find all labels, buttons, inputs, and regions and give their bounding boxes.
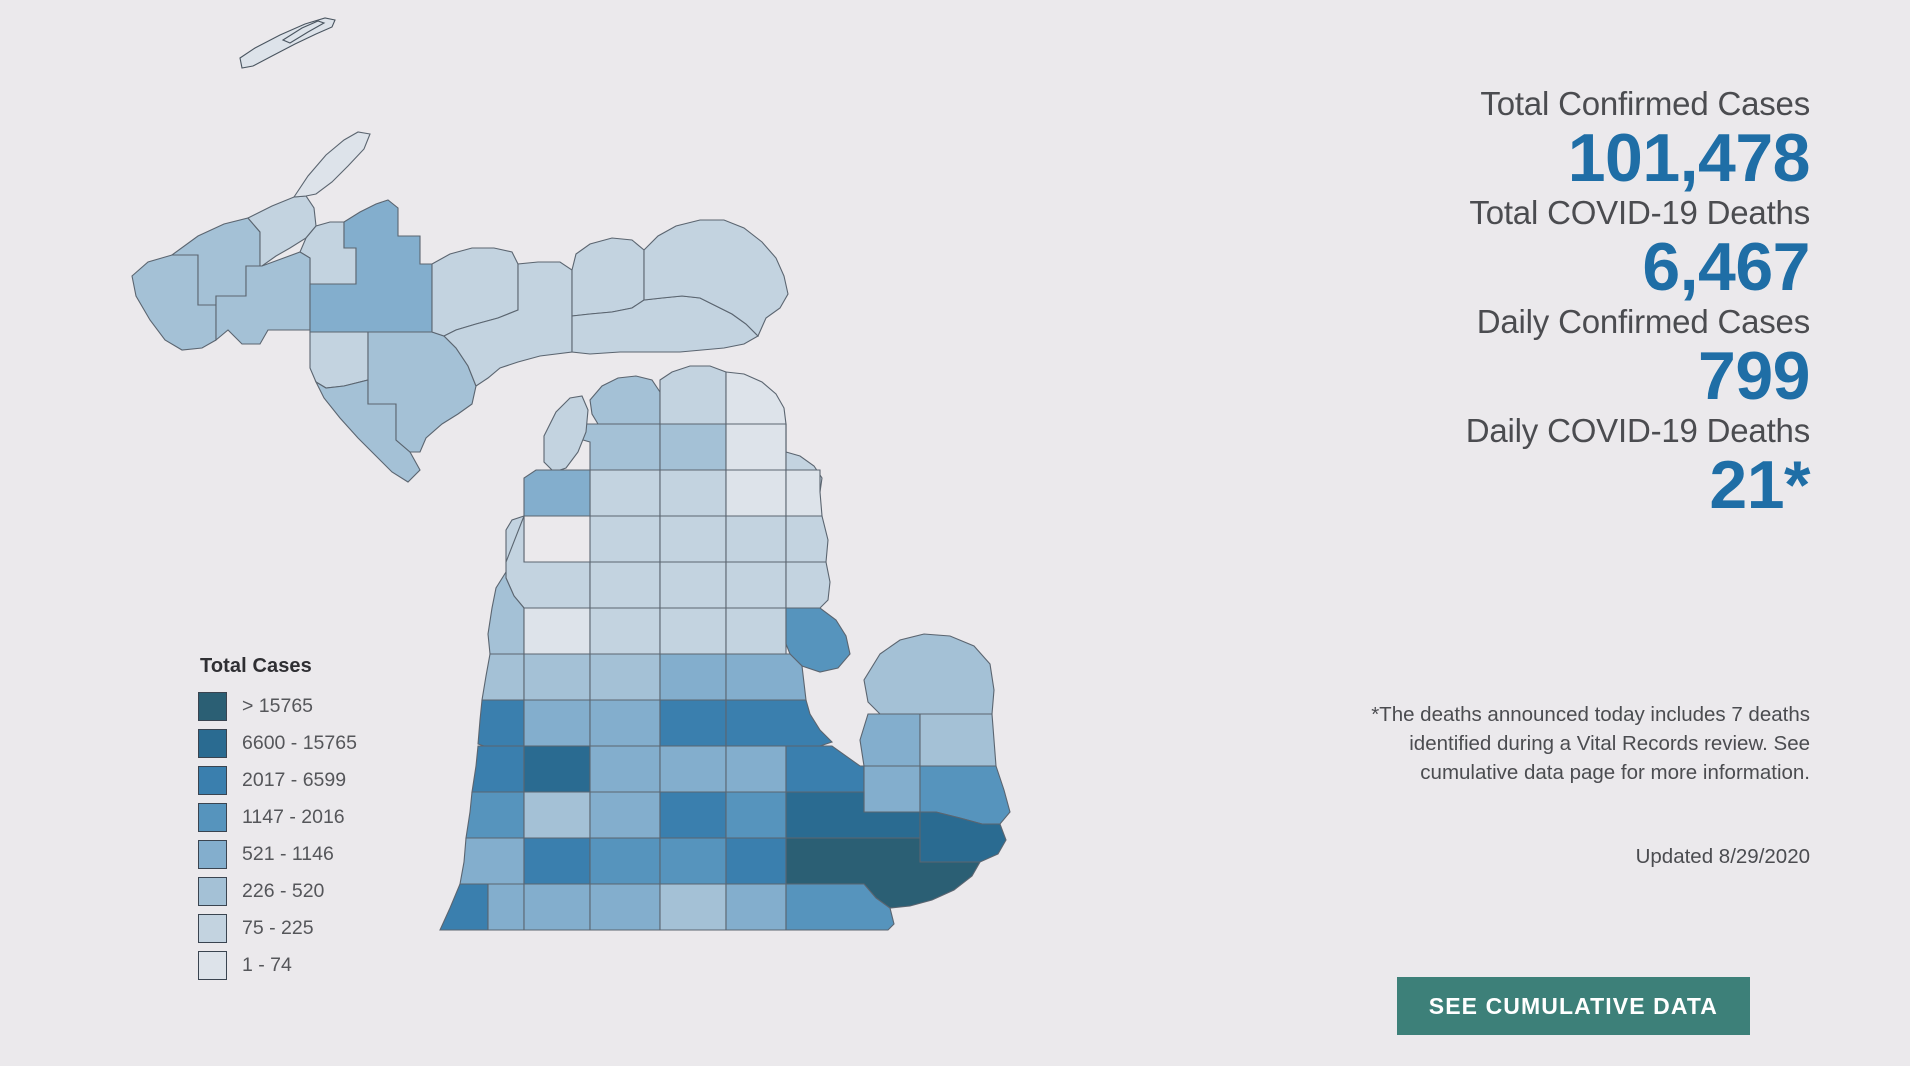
county-roscommon[interactable] [660,516,726,562]
county-lake[interactable] [524,608,590,654]
county-isabella[interactable] [660,654,726,700]
legend-label: 226 - 520 [242,880,324,903]
county-clinton[interactable] [660,746,726,792]
county-jackson[interactable] [660,838,726,884]
county-iosco[interactable] [786,516,828,562]
county-calhoun[interactable] [590,838,660,884]
county-ottawa[interactable] [472,746,524,792]
county-huron[interactable] [864,634,994,714]
legend-row[interactable]: 6600 - 15765 [198,725,428,762]
legend-row[interactable]: 521 - 1146 [198,836,428,873]
county-ingham[interactable] [660,792,726,838]
legend-label: > 15765 [242,695,313,718]
county-dickinson[interactable] [310,332,368,388]
county-montmorency[interactable] [726,424,786,470]
county-kent[interactable] [524,746,590,792]
county-saginaw[interactable] [660,700,726,746]
county-keweenaw[interactable] [294,132,370,197]
county-saginaw-e[interactable] [726,700,832,746]
stat-value: 21* [1190,450,1810,520]
stat-label: Total Confirmed Cases [1190,86,1810,123]
legend-label: 521 - 1146 [242,843,334,866]
stat-value: 101,478 [1190,123,1810,193]
county-kalamazoo[interactable] [524,838,590,884]
county-antrim[interactable] [590,470,660,516]
legend-label: 1147 - 2016 [242,806,345,829]
county-allegan[interactable] [466,792,524,838]
county-otsego[interactable] [660,424,726,470]
county-wexford[interactable] [590,562,660,608]
stat-label: Total COVID-19 Deaths [1190,195,1810,232]
county-lapeer[interactable] [864,766,920,812]
legend-label: 6600 - 15765 [242,732,357,755]
legend-row[interactable]: 2017 - 6599 [198,762,428,799]
county-leelanau[interactable] [544,396,588,472]
county-genesee[interactable] [786,746,864,792]
county-montcalm[interactable] [524,700,590,746]
county-benzie[interactable] [506,516,590,608]
county-osceola[interactable] [590,608,660,654]
bottom-frame-strip [0,1066,1920,1080]
county-lenawee[interactable] [726,884,786,930]
county-cass[interactable] [488,884,524,930]
stat-value: 6,467 [1190,232,1810,302]
legend-label: 2017 - 6599 [242,769,346,792]
legend-swatch [198,729,227,758]
county-charlevoix[interactable] [576,424,660,470]
county-clare[interactable] [660,608,726,654]
county-cheboygan[interactable] [660,366,726,424]
county-arenac[interactable] [786,562,830,608]
legend-label: 1 - 74 [242,954,292,977]
map-legend: Total Cases > 157656600 - 157652017 - 65… [198,655,428,984]
covid-dashboard: Total Cases > 157656600 - 157652017 - 65… [0,0,1920,1080]
legend-swatch [198,914,227,943]
county-emmet[interactable] [590,376,660,424]
county-sanilac[interactable] [920,714,996,766]
county-newaygo[interactable] [524,654,590,700]
county-eaton[interactable] [590,792,660,838]
county-mecosta[interactable] [590,654,660,700]
legend-row[interactable]: 75 - 225 [198,910,428,947]
legend-row[interactable]: 1147 - 2016 [198,799,428,836]
county-oscoda[interactable] [726,470,786,516]
updated-timestamp: Updated 8/29/2020 [1310,845,1810,869]
county-berrien[interactable] [440,884,488,930]
legend-rows: > 157656600 - 157652017 - 65991147 - 201… [198,688,428,984]
county-barry[interactable] [524,792,590,838]
legend-title: Total Cases [200,655,428,678]
legend-swatch [198,877,227,906]
county-kalkaska[interactable] [590,516,660,562]
county-washtenaw[interactable] [726,838,786,884]
footnote-text: *The deaths announced today includes 7 d… [1310,700,1810,787]
county-ogemaw-s[interactable] [726,562,786,608]
legend-swatch [198,692,227,721]
county-missaukee[interactable] [660,562,726,608]
county-gladwin[interactable] [726,608,786,654]
county-isle-royale[interactable] [240,18,335,68]
county-livingston[interactable] [726,792,786,838]
see-cumulative-data-button[interactable]: SEE CUMULATIVE DATA [1397,977,1750,1035]
legend-swatch [198,840,227,869]
legend-row[interactable]: 226 - 520 [198,873,428,910]
stat-value: 799 [1190,341,1810,411]
legend-row[interactable]: 1 - 74 [198,947,428,984]
stat-label: Daily Confirmed Cases [1190,304,1810,341]
county-van-buren[interactable] [460,838,524,884]
legend-label: 75 - 225 [242,917,314,940]
county-gratiot[interactable] [590,700,660,746]
stats-panel: Total Confirmed Cases101,478Total COVID-… [1190,86,1810,522]
county-hillsdale[interactable] [660,884,726,930]
stat-label: Daily COVID-19 Deaths [1190,413,1810,450]
county-ionia[interactable] [590,746,660,792]
county-luce[interactable] [572,238,644,316]
county-tuscola[interactable] [860,714,920,766]
right-frame-strip [1910,0,1920,1080]
county-ogemaw[interactable] [726,516,786,562]
legend-row[interactable]: > 15765 [198,688,428,725]
county-st-joseph[interactable] [524,884,590,930]
county-alcona[interactable] [786,470,822,516]
county-oceana[interactable] [482,654,524,700]
county-muskegon[interactable] [478,700,524,746]
county-shiawassee[interactable] [726,746,786,792]
county-crawford[interactable] [660,470,726,516]
legend-swatch [198,766,227,795]
legend-swatch [198,803,227,832]
county-branch[interactable] [590,884,660,930]
legend-swatch [198,951,227,980]
county-midland[interactable] [726,654,806,700]
county-grand-traverse[interactable] [524,470,590,516]
